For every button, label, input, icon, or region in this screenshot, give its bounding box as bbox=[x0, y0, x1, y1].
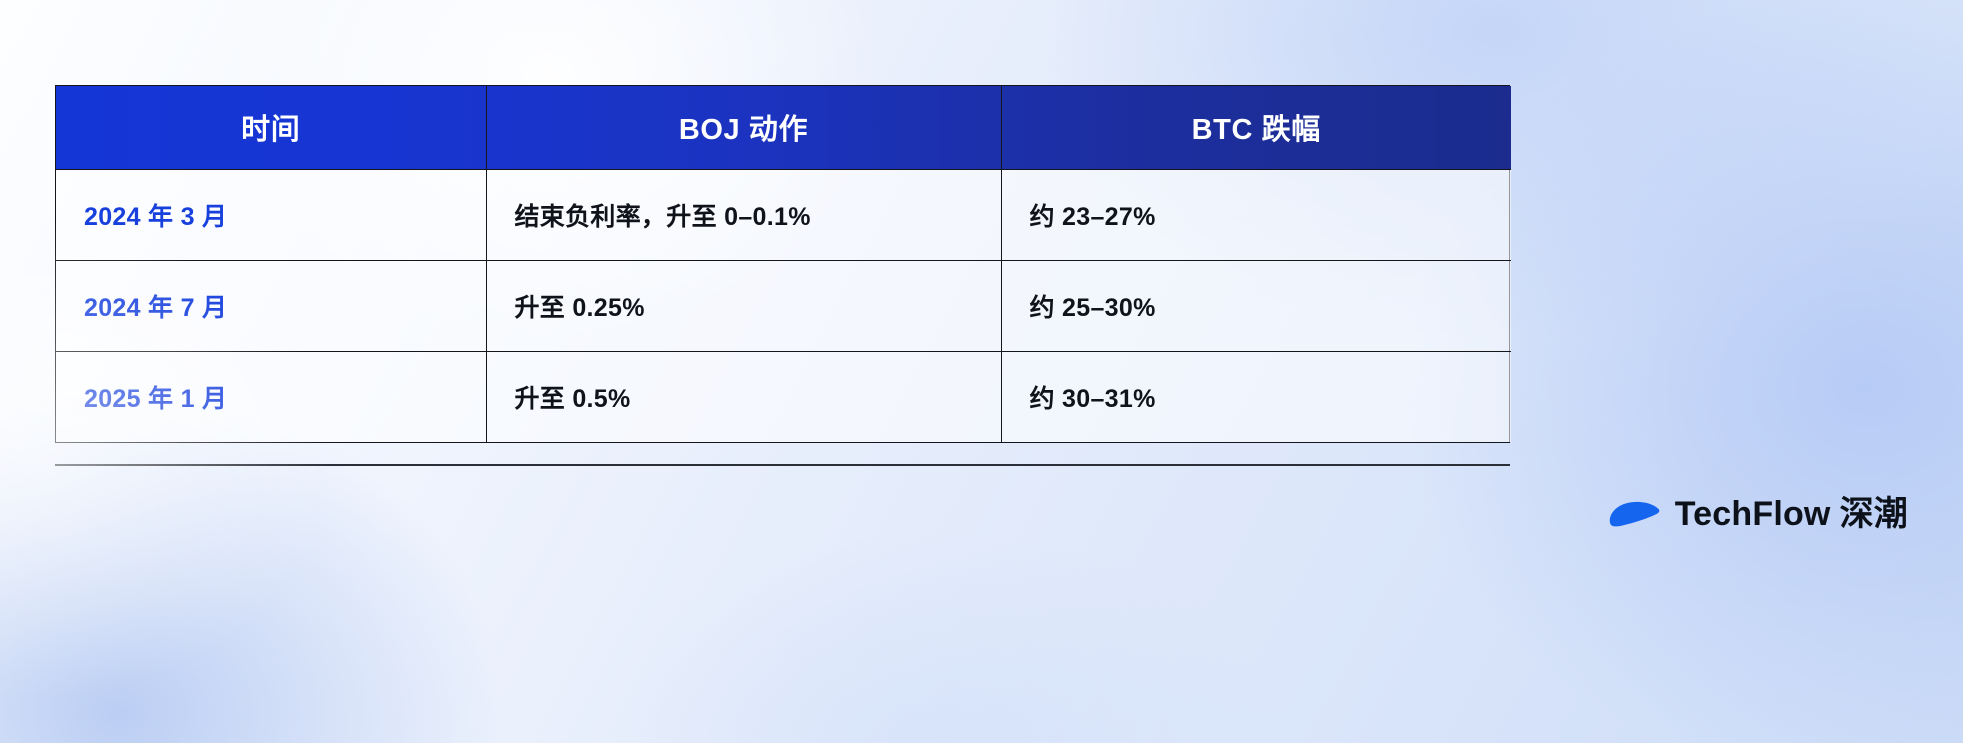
brand-name-cn: 深潮 bbox=[1840, 495, 1908, 533]
column-header-time: 时间 bbox=[56, 86, 486, 169]
footer-divider bbox=[55, 464, 1510, 466]
column-header-btc-drawdown: BTC 跌幅 bbox=[1001, 86, 1511, 169]
cell-btc-drawdown: 约 30–31% bbox=[1001, 351, 1511, 442]
boj-btc-table: 时间 BOJ 动作 BTC 跌幅 2024 年 3 月 结束负利率，升至 0–0… bbox=[56, 86, 1511, 442]
cell-btc-drawdown: 约 25–30% bbox=[1001, 260, 1511, 351]
cell-btc-drawdown: 约 23–27% bbox=[1001, 169, 1511, 260]
table-header-row: 时间 BOJ 动作 BTC 跌幅 bbox=[56, 86, 1511, 169]
table-row: 2025 年 1 月 升至 0.5% 约 30–31% bbox=[56, 351, 1511, 442]
cell-boj-action: 升至 0.5% bbox=[486, 351, 1001, 442]
table-body: 2024 年 3 月 结束负利率，升至 0–0.1% 约 23–27% 2024… bbox=[56, 169, 1511, 442]
cell-boj-action: 结束负利率，升至 0–0.1% bbox=[486, 169, 1001, 260]
poster-canvas: 时间 BOJ 动作 BTC 跌幅 2024 年 3 月 结束负利率，升至 0–0… bbox=[0, 0, 1963, 743]
brand-logo: TechFlow深潮 bbox=[1607, 497, 1908, 531]
column-header-boj-action: BOJ 动作 bbox=[486, 86, 1001, 169]
comparison-table-container: 时间 BOJ 动作 BTC 跌幅 2024 年 3 月 结束负利率，升至 0–0… bbox=[55, 85, 1510, 443]
brand-name: TechFlow深潮 bbox=[1675, 497, 1908, 531]
table-row: 2024 年 7 月 升至 0.25% 约 25–30% bbox=[56, 260, 1511, 351]
table-header: 时间 BOJ 动作 BTC 跌幅 bbox=[56, 86, 1511, 169]
techflow-leaf-icon bbox=[1607, 498, 1661, 531]
table-row: 2024 年 3 月 结束负利率，升至 0–0.1% 约 23–27% bbox=[56, 169, 1511, 260]
cell-time: 2024 年 7 月 bbox=[56, 260, 486, 351]
cell-time: 2025 年 1 月 bbox=[56, 351, 486, 442]
cell-boj-action: 升至 0.25% bbox=[486, 260, 1001, 351]
brand-name-en: TechFlow bbox=[1675, 495, 1831, 533]
cell-time: 2024 年 3 月 bbox=[56, 169, 486, 260]
